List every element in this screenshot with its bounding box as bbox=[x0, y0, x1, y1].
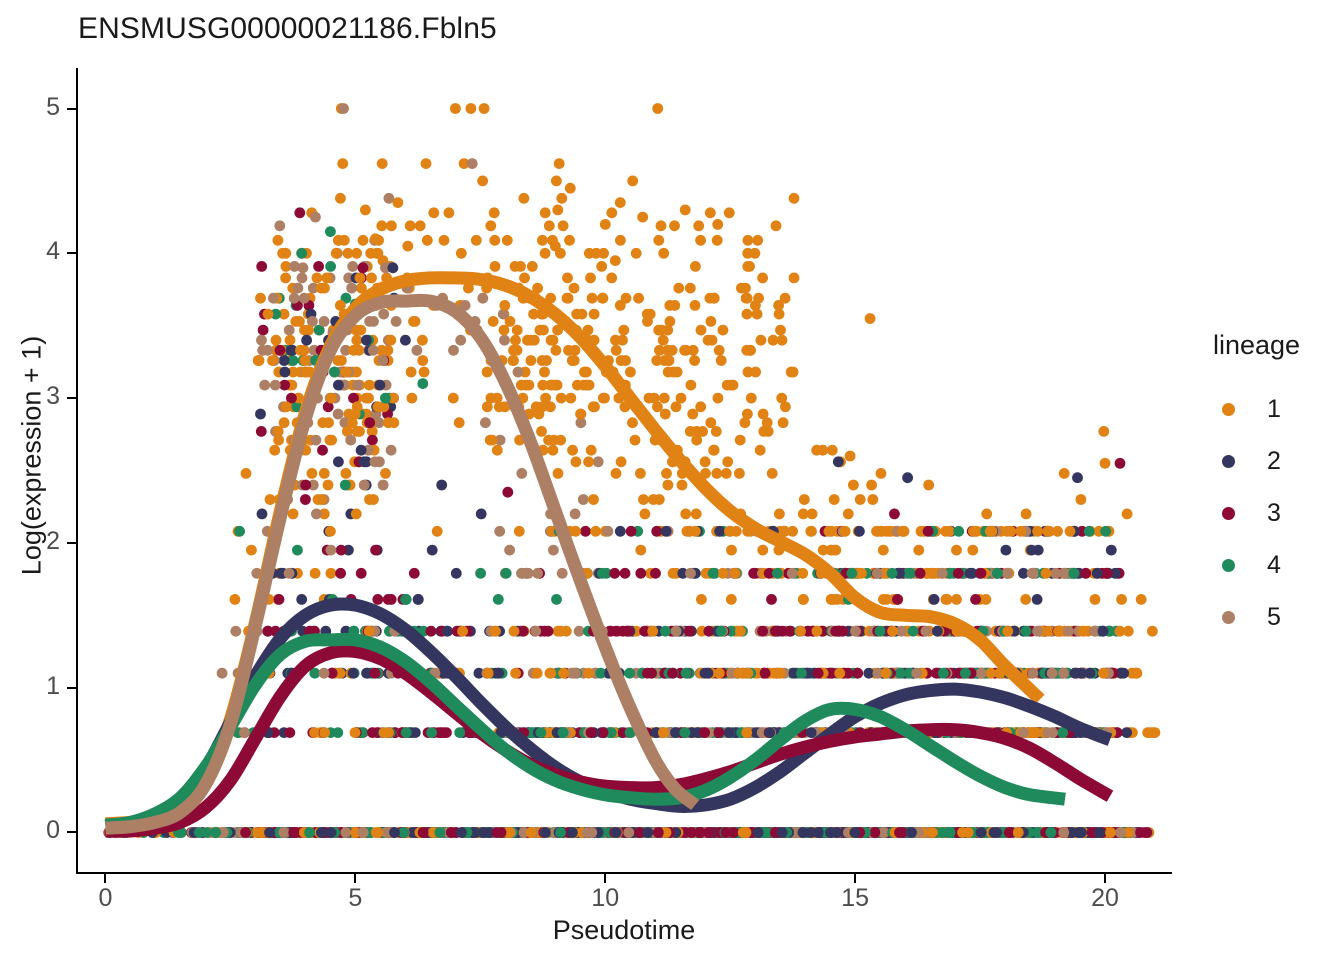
scatter-point bbox=[1032, 526, 1043, 537]
scatter-point bbox=[735, 626, 746, 637]
scatter-point bbox=[1094, 827, 1105, 838]
scatter-point bbox=[766, 594, 777, 605]
scatter-point bbox=[426, 727, 437, 738]
scatter-point bbox=[892, 594, 903, 605]
scatter-point bbox=[426, 626, 437, 637]
scatter-point bbox=[733, 668, 744, 679]
scatter-point bbox=[757, 626, 768, 637]
scatter-point bbox=[721, 468, 732, 479]
scatter-point bbox=[293, 283, 304, 294]
scatter-point bbox=[410, 316, 421, 327]
scatter-point bbox=[570, 668, 581, 679]
scatter-point bbox=[296, 594, 307, 605]
scatter-point bbox=[894, 827, 905, 838]
scatter-point bbox=[653, 827, 664, 838]
scatter-point bbox=[609, 568, 620, 579]
scatter-point bbox=[405, 220, 416, 231]
scatter-point bbox=[623, 827, 634, 838]
scatter-point bbox=[599, 393, 610, 404]
scatter-point bbox=[647, 626, 658, 637]
scatter-point bbox=[1002, 526, 1013, 537]
scatter-point bbox=[1065, 526, 1076, 537]
scatter-point bbox=[588, 401, 599, 412]
scatter-point bbox=[780, 401, 791, 412]
scatter-point bbox=[830, 626, 841, 637]
scatter-point bbox=[611, 345, 622, 356]
scatter-point bbox=[352, 401, 363, 412]
scatter-point bbox=[567, 445, 578, 456]
x-tick-label: 5 bbox=[315, 886, 395, 911]
scatter-point bbox=[1032, 626, 1043, 637]
scatter-point bbox=[273, 235, 284, 246]
scatter-point bbox=[897, 526, 908, 537]
scatter-point bbox=[1021, 509, 1032, 520]
scatter-point bbox=[515, 261, 526, 272]
scatter-point bbox=[537, 355, 548, 366]
legend-item-1[interactable]: 1 bbox=[1205, 383, 1335, 435]
scatter-point bbox=[940, 526, 951, 537]
scatter-point bbox=[467, 158, 478, 169]
scatter-point bbox=[1041, 568, 1052, 579]
scatter-point bbox=[402, 241, 413, 252]
scatter-point bbox=[714, 345, 725, 356]
x-tick-mark bbox=[104, 874, 106, 883]
scatter-point bbox=[1147, 626, 1158, 637]
scatter-point bbox=[1076, 494, 1087, 505]
scatter-point bbox=[649, 393, 660, 404]
scatter-point bbox=[876, 468, 887, 479]
scatter-point bbox=[356, 568, 367, 579]
scatter-point bbox=[684, 626, 695, 637]
scatter-point bbox=[337, 158, 348, 169]
scatter-point bbox=[486, 393, 497, 404]
scatter-point bbox=[941, 594, 952, 605]
scatter-point bbox=[457, 626, 468, 637]
scatter-point bbox=[705, 207, 716, 218]
scatter-point bbox=[265, 494, 276, 505]
scatter-point bbox=[616, 355, 627, 366]
scatter-point bbox=[673, 283, 684, 294]
scatter-point bbox=[530, 626, 541, 637]
scatter-point bbox=[548, 545, 559, 556]
scatter-point bbox=[508, 355, 519, 366]
scatter-point bbox=[540, 248, 551, 259]
scatter-point bbox=[319, 283, 330, 294]
scatter-point bbox=[711, 426, 722, 437]
scatter-point bbox=[661, 526, 672, 537]
scatter-point bbox=[806, 727, 817, 738]
scatter-point bbox=[596, 261, 607, 272]
scatter-point bbox=[1021, 626, 1032, 637]
scatter-point bbox=[366, 273, 377, 284]
scatter-point bbox=[691, 509, 702, 520]
scatter-point bbox=[278, 827, 289, 838]
scatter-point bbox=[695, 827, 706, 838]
scatter-point bbox=[716, 355, 727, 366]
scatter-point bbox=[1052, 526, 1063, 537]
scatter-point bbox=[712, 235, 723, 246]
y-tick-mark bbox=[67, 831, 76, 833]
scatter-point bbox=[543, 626, 554, 637]
scatter-point bbox=[325, 526, 336, 537]
scatter-point bbox=[326, 568, 337, 579]
scatter-point bbox=[965, 568, 976, 579]
scatter-point bbox=[358, 262, 369, 273]
scatter-point bbox=[554, 158, 565, 169]
legend-swatch bbox=[1222, 611, 1235, 624]
scatter-point bbox=[325, 435, 336, 446]
scatter-point bbox=[696, 594, 707, 605]
scatter-point bbox=[1032, 594, 1043, 605]
scatter-point bbox=[724, 526, 735, 537]
scatter-point bbox=[509, 626, 520, 637]
scatter-point bbox=[415, 220, 426, 231]
scatter-point bbox=[351, 335, 362, 346]
scatter-point bbox=[373, 401, 384, 412]
scatter-point bbox=[493, 594, 504, 605]
scatter-point bbox=[341, 468, 352, 479]
chart-page: ENSMUSG00000021186.Fbln5 01234505101520 … bbox=[0, 0, 1344, 960]
scatter-point bbox=[913, 545, 924, 556]
scatter-point bbox=[555, 827, 566, 838]
scatter-point bbox=[565, 393, 576, 404]
scatter-point bbox=[938, 668, 949, 679]
scatter-point bbox=[744, 261, 755, 272]
scatter-point bbox=[631, 248, 642, 259]
scatter-point bbox=[489, 235, 500, 246]
scatter-point bbox=[526, 355, 537, 366]
scatter-point bbox=[284, 568, 295, 579]
scatter-point bbox=[869, 827, 880, 838]
scatter-point bbox=[825, 827, 836, 838]
scatter-point bbox=[929, 594, 940, 605]
scatter-point bbox=[659, 393, 670, 404]
y-tick-label: 5 bbox=[46, 95, 60, 120]
scatter-point bbox=[1116, 594, 1127, 605]
scatter-point bbox=[545, 401, 556, 412]
scatter-point bbox=[367, 727, 378, 738]
scatter-point bbox=[656, 325, 667, 336]
scatter-point bbox=[615, 197, 626, 208]
x-tick-mark bbox=[854, 874, 856, 883]
scatter-point bbox=[345, 435, 356, 446]
scatter-point bbox=[985, 526, 996, 537]
plot-canvas bbox=[78, 68, 1170, 873]
scatter-point bbox=[615, 235, 626, 246]
scatter-point bbox=[662, 345, 673, 356]
scatter-point bbox=[626, 526, 637, 537]
scatter-point bbox=[499, 300, 510, 311]
scatter-point bbox=[1072, 472, 1083, 483]
scatter-point bbox=[686, 380, 697, 391]
y-tick-label: 0 bbox=[46, 818, 60, 843]
legend-item-2[interactable]: 2 bbox=[1205, 435, 1335, 487]
scatter-point bbox=[718, 325, 729, 336]
scatter-point bbox=[295, 345, 306, 356]
y-axis-line bbox=[76, 68, 78, 873]
scatter-point bbox=[734, 468, 745, 479]
legend-item-3[interactable]: 3 bbox=[1205, 487, 1335, 539]
scatter-point bbox=[586, 827, 597, 838]
scatter-point bbox=[281, 401, 292, 412]
scatter-point bbox=[740, 417, 751, 428]
scatter-point bbox=[1059, 468, 1070, 479]
scatter-point bbox=[355, 273, 366, 284]
scatter-point bbox=[854, 526, 865, 537]
scatter-point bbox=[937, 568, 948, 579]
scatter-point bbox=[1001, 545, 1012, 556]
scatter-point bbox=[528, 309, 539, 320]
scatter-point bbox=[319, 468, 330, 479]
scatter-point bbox=[828, 594, 839, 605]
scatter-point bbox=[726, 594, 737, 605]
scatter-point bbox=[298, 262, 309, 273]
scatter-point bbox=[1047, 727, 1058, 738]
scatter-point bbox=[333, 235, 344, 246]
legend-item-5[interactable]: 5 bbox=[1205, 591, 1335, 643]
scatter-point bbox=[571, 456, 582, 467]
x-tick-mark bbox=[1104, 874, 1106, 883]
scatter-point bbox=[878, 545, 889, 556]
scatter-point bbox=[288, 509, 299, 520]
scatter-point bbox=[274, 594, 285, 605]
scatter-point bbox=[693, 220, 704, 231]
scatter-point bbox=[317, 417, 328, 428]
scatter-point bbox=[240, 827, 251, 838]
scatter-point bbox=[401, 727, 412, 738]
scatter-point bbox=[364, 626, 375, 637]
scatter-point bbox=[1076, 668, 1087, 679]
y-tick-label: 2 bbox=[46, 529, 60, 554]
scatter-point bbox=[696, 325, 707, 336]
scatter-point bbox=[383, 417, 394, 428]
scatter-point bbox=[695, 235, 706, 246]
scatter-point bbox=[217, 668, 228, 679]
scatter-point bbox=[562, 273, 573, 284]
scatter-point bbox=[932, 626, 943, 637]
scatter-point bbox=[388, 262, 399, 273]
scatter-point bbox=[834, 668, 845, 679]
x-tick-mark bbox=[354, 874, 356, 883]
scatter-point bbox=[210, 827, 221, 838]
scatter-point bbox=[454, 417, 465, 428]
legend-key-dot-icon bbox=[1205, 455, 1251, 468]
scatter-point bbox=[480, 417, 491, 428]
scatter-point bbox=[478, 827, 489, 838]
scatter-point bbox=[477, 176, 488, 187]
scatter-point bbox=[661, 468, 672, 479]
scatter-point bbox=[539, 367, 550, 378]
scatter-point bbox=[300, 480, 311, 491]
scatter-point bbox=[818, 545, 829, 556]
scatter-point bbox=[570, 509, 581, 520]
scatter-point bbox=[685, 568, 696, 579]
scatter-point bbox=[653, 235, 664, 246]
scatter-point bbox=[690, 526, 701, 537]
scatter-point bbox=[304, 827, 315, 838]
scatter-point bbox=[300, 494, 311, 505]
scatter-point bbox=[830, 545, 841, 556]
scatter-point bbox=[540, 207, 551, 218]
scatter-point bbox=[343, 248, 354, 259]
scatter-point bbox=[262, 345, 273, 356]
scatter-point bbox=[556, 393, 567, 404]
scatter-point bbox=[413, 594, 424, 605]
scatter-point bbox=[370, 233, 381, 244]
scatter-point bbox=[271, 335, 282, 346]
scatter-point bbox=[1033, 545, 1044, 556]
scatter-point bbox=[1092, 568, 1103, 579]
scatter-point bbox=[887, 626, 898, 637]
scatter-point bbox=[656, 220, 667, 231]
page-title: ENSMUSG00000021186.Fbln5 bbox=[78, 12, 497, 46]
scatter-point bbox=[323, 480, 334, 491]
scatter-point bbox=[658, 335, 669, 346]
scatter-point bbox=[642, 309, 653, 320]
scatter-point bbox=[535, 325, 546, 336]
scatter-point bbox=[325, 226, 336, 237]
scatter-point bbox=[756, 335, 767, 346]
scatter-point bbox=[333, 380, 344, 391]
scatter-point bbox=[454, 727, 465, 738]
scatter-point bbox=[798, 594, 809, 605]
scatter-point bbox=[714, 668, 725, 679]
scatter-point bbox=[401, 594, 412, 605]
scatter-point bbox=[981, 509, 992, 520]
scatter-point bbox=[326, 827, 337, 838]
scatter-point bbox=[921, 626, 932, 637]
scatter-point bbox=[681, 668, 692, 679]
scatter-point bbox=[970, 526, 981, 537]
legend-item-4[interactable]: 4 bbox=[1205, 539, 1335, 591]
scatter-point bbox=[516, 468, 527, 479]
scatter-point bbox=[590, 526, 601, 537]
scatter-point bbox=[615, 526, 626, 537]
scatter-point bbox=[477, 293, 488, 304]
x-axis-line bbox=[76, 872, 1172, 874]
scatter-point bbox=[562, 293, 573, 304]
scatter-point bbox=[253, 355, 264, 366]
scatter-point bbox=[617, 335, 628, 346]
scatter-point bbox=[722, 380, 733, 391]
scatter-point bbox=[881, 594, 892, 605]
scatter-point bbox=[1098, 668, 1109, 679]
scatter-point bbox=[1058, 668, 1069, 679]
scatter-point bbox=[848, 480, 859, 491]
scatter-point bbox=[412, 345, 423, 356]
scatter-point bbox=[417, 335, 428, 346]
scatter-point bbox=[422, 235, 433, 246]
scatter-point bbox=[348, 345, 359, 356]
scatter-point bbox=[348, 668, 359, 679]
scatter-point bbox=[512, 325, 523, 336]
scatter-point bbox=[580, 526, 591, 537]
scatter-point bbox=[960, 668, 971, 679]
scatter-point bbox=[580, 367, 591, 378]
scatter-point bbox=[957, 827, 968, 838]
scatter-point bbox=[383, 727, 394, 738]
scatter-point bbox=[690, 261, 701, 272]
scatter-point bbox=[269, 445, 280, 456]
scatter-point bbox=[699, 727, 710, 738]
scatter-point bbox=[1027, 668, 1038, 679]
scatter-point bbox=[540, 827, 551, 838]
scatter-point bbox=[867, 494, 878, 505]
legend-title: lineage bbox=[1205, 330, 1335, 361]
scatter-point bbox=[708, 568, 719, 579]
scatter-point bbox=[606, 273, 617, 284]
scatter-point bbox=[777, 626, 788, 637]
scatter-point bbox=[703, 668, 714, 679]
scatter-point bbox=[745, 345, 756, 356]
scatter-point bbox=[660, 626, 671, 637]
scatter-point bbox=[371, 827, 382, 838]
scatter-point bbox=[280, 248, 291, 259]
scatter-point bbox=[456, 827, 467, 838]
scatter-point bbox=[479, 103, 490, 114]
scatter-point bbox=[496, 827, 507, 838]
scatter-point bbox=[313, 494, 324, 505]
scatter-point bbox=[618, 325, 629, 336]
scatter-point bbox=[386, 220, 397, 231]
scatter-point bbox=[391, 316, 402, 327]
scatter-point bbox=[400, 335, 411, 346]
legend-swatch bbox=[1222, 507, 1235, 520]
scatter-point bbox=[499, 325, 510, 336]
scatter-point bbox=[743, 235, 754, 246]
scatter-point bbox=[499, 335, 510, 346]
scatter-point bbox=[280, 367, 291, 378]
scatter-point bbox=[524, 380, 535, 391]
scatter-point bbox=[409, 568, 420, 579]
scatter-point bbox=[797, 568, 808, 579]
scatter-point bbox=[668, 568, 679, 579]
scatter-point bbox=[321, 273, 332, 284]
scatter-point bbox=[456, 248, 467, 259]
scatter-point bbox=[311, 509, 322, 520]
scatter-point bbox=[1018, 727, 1029, 738]
scatter-point bbox=[630, 435, 641, 446]
scatter-point bbox=[273, 426, 284, 437]
scatter-point bbox=[680, 205, 691, 216]
scatter-point bbox=[270, 380, 281, 391]
fitted-curve-lineage-5 bbox=[106, 300, 696, 828]
scatter-point bbox=[289, 293, 300, 304]
scatter-point bbox=[338, 103, 349, 114]
scatter-point bbox=[436, 480, 447, 491]
scatter-point bbox=[587, 293, 598, 304]
scatter-point bbox=[650, 568, 661, 579]
scatter-point bbox=[585, 273, 596, 284]
scatter-point bbox=[824, 526, 835, 537]
scatter-point bbox=[300, 367, 311, 378]
scatter-point bbox=[1043, 626, 1054, 637]
scatter-point bbox=[690, 300, 701, 311]
scatter-point bbox=[953, 568, 964, 579]
scatter-point bbox=[312, 273, 323, 284]
scatter-point bbox=[522, 335, 533, 346]
scatter-point bbox=[316, 827, 327, 838]
scatter-point bbox=[953, 526, 964, 537]
scatter-point bbox=[532, 568, 543, 579]
scatter-point bbox=[432, 526, 443, 537]
scatter-point bbox=[951, 594, 962, 605]
scatter-point bbox=[923, 480, 934, 491]
scatter-point bbox=[255, 409, 266, 420]
scatter-point bbox=[717, 568, 728, 579]
scatter-point bbox=[902, 472, 913, 483]
scatter-point bbox=[375, 380, 386, 391]
